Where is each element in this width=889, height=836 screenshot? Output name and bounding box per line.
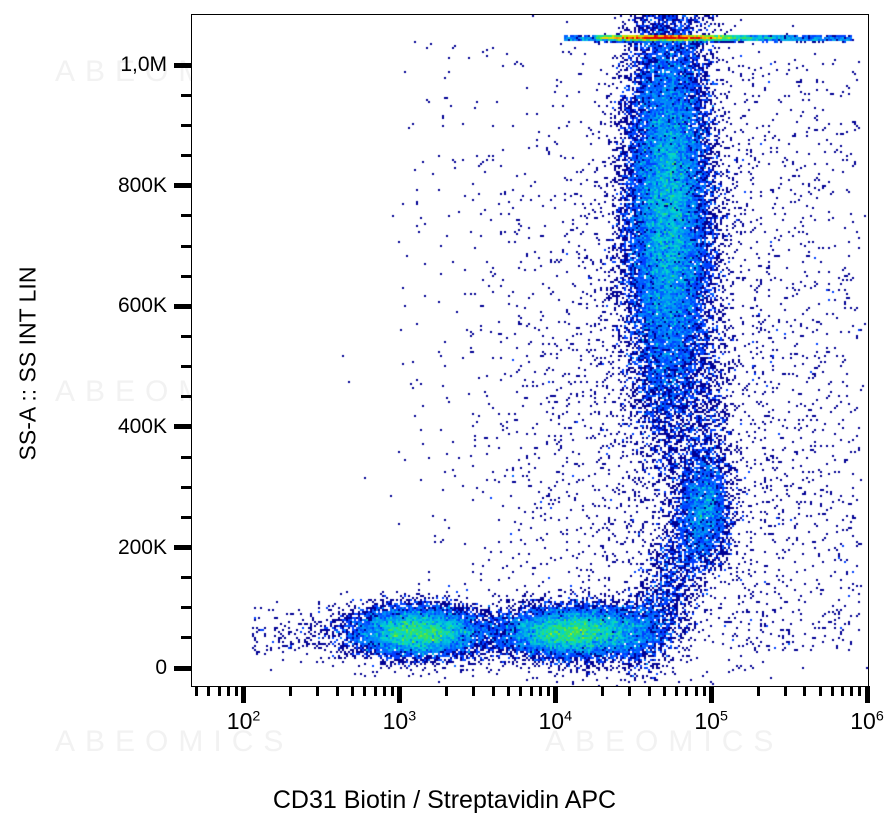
x-tick-minor bbox=[685, 686, 688, 696]
scatter-plot-canvas bbox=[192, 15, 868, 686]
x-tick-minor bbox=[235, 686, 238, 696]
x-tick-major bbox=[709, 686, 714, 703]
x-tick-minor bbox=[841, 686, 844, 696]
x-tick-minor bbox=[507, 686, 510, 696]
y-tick-minor bbox=[181, 275, 191, 278]
x-tick-minor bbox=[472, 686, 475, 696]
x-axis-title: CD31 Biotin / Streptavidin APC bbox=[0, 786, 889, 815]
x-tick-minor bbox=[539, 686, 542, 696]
y-tick-major bbox=[174, 666, 191, 671]
x-tick-minor bbox=[757, 686, 760, 696]
x-tick-major bbox=[553, 686, 558, 703]
y-tick-major bbox=[174, 304, 191, 309]
y-tick-minor bbox=[181, 395, 191, 398]
y-tick-minor bbox=[181, 154, 191, 157]
x-tick-minor bbox=[547, 686, 550, 696]
y-tick-major bbox=[174, 424, 191, 429]
x-tick-minor bbox=[391, 686, 394, 696]
y-tick-major bbox=[174, 183, 191, 188]
x-tick-minor bbox=[351, 686, 354, 696]
x-tick-minor bbox=[383, 686, 386, 696]
y-tick-minor bbox=[181, 124, 191, 127]
y-tick-label: 1,0M bbox=[0, 53, 167, 77]
x-tick-minor bbox=[374, 686, 377, 696]
y-tick-minor bbox=[181, 606, 191, 609]
x-tick-label: 103 bbox=[383, 708, 417, 735]
y-tick-minor bbox=[181, 365, 191, 368]
x-tick-minor bbox=[784, 686, 787, 696]
y-tick-minor bbox=[181, 214, 191, 217]
y-tick-minor bbox=[181, 335, 191, 338]
x-tick-minor bbox=[227, 686, 230, 696]
x-tick-minor bbox=[831, 686, 834, 696]
x-tick-minor bbox=[858, 686, 861, 696]
x-tick-minor bbox=[363, 686, 366, 696]
x-tick-minor bbox=[601, 686, 604, 696]
x-tick-major bbox=[241, 686, 246, 703]
y-tick-minor bbox=[181, 516, 191, 519]
y-tick-minor bbox=[181, 94, 191, 97]
y-tick-minor bbox=[181, 576, 191, 579]
y-tick-minor bbox=[181, 636, 191, 639]
x-tick-minor bbox=[703, 686, 706, 696]
x-tick-label: 102 bbox=[227, 708, 261, 735]
x-tick-minor bbox=[648, 686, 651, 696]
x-tick-minor bbox=[207, 686, 210, 696]
y-axis-title: SS-A :: SS INT LIN bbox=[15, 204, 42, 524]
x-tick-minor bbox=[530, 686, 533, 696]
y-tick-minor bbox=[181, 456, 191, 459]
x-tick-minor bbox=[850, 686, 853, 696]
y-tick-minor bbox=[181, 245, 191, 248]
y-tick-label: 800K bbox=[0, 174, 167, 198]
x-tick-minor bbox=[445, 686, 448, 696]
x-tick-minor bbox=[675, 686, 678, 696]
x-tick-minor bbox=[819, 686, 822, 696]
x-tick-minor bbox=[663, 686, 666, 696]
y-tick-label: 0 bbox=[0, 656, 167, 680]
y-tick-label: 200K bbox=[0, 536, 167, 560]
x-tick-major bbox=[865, 686, 870, 703]
watermark-text: ABEOMICS bbox=[545, 725, 783, 759]
x-tick-minor bbox=[289, 686, 292, 696]
y-tick-minor bbox=[181, 486, 191, 489]
x-tick-minor bbox=[218, 686, 221, 696]
x-tick-label: 105 bbox=[694, 708, 728, 735]
x-tick-minor bbox=[803, 686, 806, 696]
x-tick-label: 104 bbox=[539, 708, 573, 735]
x-tick-minor bbox=[695, 686, 698, 696]
x-tick-minor bbox=[628, 686, 631, 696]
y-tick-major bbox=[174, 545, 191, 550]
x-tick-minor bbox=[519, 686, 522, 696]
y-tick-major bbox=[174, 63, 191, 68]
x-tick-minor bbox=[492, 686, 495, 696]
x-tick-major bbox=[397, 686, 402, 703]
x-tick-minor bbox=[195, 686, 198, 696]
flow-cytometry-plot-page: ABEOMICSABEOMICSABEOMICSABEOMICSABEOMICS… bbox=[0, 0, 889, 836]
x-tick-label: 106 bbox=[850, 708, 884, 735]
x-tick-minor bbox=[336, 686, 339, 696]
x-tick-minor bbox=[316, 686, 319, 696]
